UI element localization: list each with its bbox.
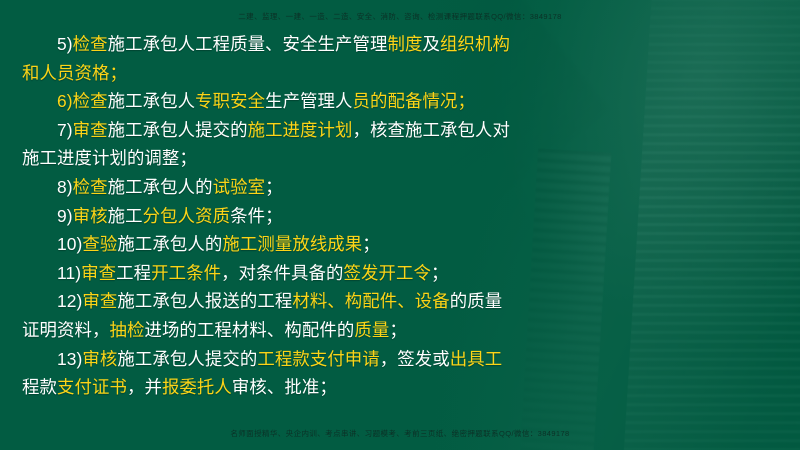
text-run: 施工承包人工程质量、安全生产管理 [108, 34, 388, 54]
highlighted-text-run: 开工条件 [151, 263, 221, 283]
highlighted-text-run: 质量 [354, 320, 389, 340]
highlighted-text-run: 组织机构 [440, 34, 510, 54]
text-run: 5) [22, 34, 73, 54]
highlighted-text-run: 专职安全 [195, 91, 265, 111]
text-run: 施工承包人报送的工程 [117, 291, 292, 311]
highlighted-text-run: 签发开工令 [344, 263, 431, 283]
list-item: 5)检查施工承包人工程质量、安全生产管理制度及组织机构 和人员资格； [22, 30, 582, 87]
text-run: 8) [22, 177, 73, 197]
text-run: ； [362, 234, 380, 254]
text-run: 施工承包人的 [108, 177, 213, 197]
highlighted-text-run: 报委托人 [162, 377, 232, 397]
text-run: ，核查施工承包人对 [353, 120, 510, 140]
text-run: 的质量 [450, 291, 502, 311]
list-item: 13)审核施工承包人提交的工程款支付申请，签发或出具工 程款支付证书，并报委托人… [22, 345, 582, 402]
list-item: 10)查验施工承包人的施工测量放线成果； [22, 230, 582, 259]
text-run: ； [431, 263, 449, 283]
highlighted-text-run: 支付证书 [57, 377, 127, 397]
highlighted-text-run: 审核 [82, 349, 117, 369]
highlighted-text-run: 检查 [73, 177, 108, 197]
highlighted-text-run: 审查 [81, 263, 116, 283]
text-run: 10) [22, 234, 82, 254]
text-run: 审核、批准； [232, 377, 337, 397]
text-run: 程款 [22, 377, 57, 397]
text-run: 生产管理人 [265, 91, 352, 111]
text-run: 9) [22, 206, 73, 226]
list-item: 7)审查施工承包人提交的施工进度计划，核查施工承包人对 施工进度计划的调整； [22, 116, 582, 173]
highlighted-text-run: 制度 [388, 34, 423, 54]
highlighted-text-run: 审查 [73, 120, 108, 140]
highlighted-text-run: 检查 [73, 91, 108, 111]
text-run: 及 [422, 34, 440, 54]
top-watermark-banner: 二建、监理、一建、一造、二造、安全、消防、咨询、检测课程押题联系QQ/微信：38… [0, 11, 800, 22]
highlighted-text-run: 分包人资质 [143, 206, 230, 226]
list-item: 11)审查工程开工条件，对条件具备的签发开工令； [22, 259, 582, 288]
highlighted-text-run: 出具工 [450, 349, 502, 369]
bottom-watermark-banner: 名师面授精华、央企内训、考点串讲、习题模考、考前三页纸、绝密押题联系QQ/微信：… [0, 428, 800, 439]
text-run: ，并 [127, 377, 162, 397]
text-run: 13) [22, 349, 82, 369]
paragraph-list: 5)检查施工承包人工程质量、安全生产管理制度及组织机构 和人员资格； 6)检查施… [22, 30, 582, 402]
highlighted-text-run: 员的配备情况； [353, 91, 475, 111]
list-item: 9)审核施工分包人资质条件； [22, 202, 582, 231]
highlighted-text-run: 查验 [82, 234, 117, 254]
list-item: 6)检查施工承包人专职安全生产管理人员的配备情况； [22, 87, 582, 116]
text-run: 工程 [116, 263, 151, 283]
highlighted-text-run: 检查 [73, 34, 108, 54]
text-run: 7) [22, 120, 73, 140]
presentation-slide: 二建、监理、一建、一造、二造、安全、消防、咨询、检测课程押题联系QQ/微信：38… [0, 0, 800, 450]
highlighted-text-run: 审查 [82, 291, 117, 311]
text-run: 施工承包人提交的 [108, 120, 248, 140]
text-run: 11) [22, 263, 81, 283]
text-run: 12) [22, 291, 82, 311]
text-run: ，对条件具备的 [221, 263, 343, 283]
text-run: 施工进度计划的调整； [22, 148, 197, 168]
highlighted-text-run: 6) [22, 91, 73, 111]
highlighted-text-run: 材料、构配件、设备 [292, 291, 449, 311]
highlighted-text-run: 和人员资格； [22, 63, 127, 83]
list-item: 8)检查施工承包人的试验室； [22, 173, 582, 202]
text-run: 施工承包人的 [117, 234, 222, 254]
text-run: ； [265, 177, 283, 197]
slide-body-text: 5)检查施工承包人工程质量、安全生产管理制度及组织机构 和人员资格； 6)检查施… [22, 30, 582, 402]
highlighted-text-run: 工程款支付申请 [257, 349, 379, 369]
list-item: 12)审查施工承包人报送的工程材料、构配件、设备的质量 证明资料，抽检进场的工程… [22, 287, 582, 344]
text-run: 施工 [108, 206, 143, 226]
text-run: 施工承包人提交的 [117, 349, 257, 369]
text-run: 进场的工程材料、构配件的 [144, 320, 354, 340]
text-run: ； [389, 320, 407, 340]
highlighted-text-run: 抽检 [109, 320, 144, 340]
text-run: ，签发或 [380, 349, 450, 369]
highlighted-text-run: 施工测量放线成果 [222, 234, 362, 254]
highlighted-text-run: 试验室 [213, 177, 265, 197]
text-run: 证明资料， [22, 320, 109, 340]
highlighted-text-run: 审核 [73, 206, 108, 226]
text-run: 条件； [230, 206, 282, 226]
text-run: 施工承包人 [108, 91, 195, 111]
highlighted-text-run: 施工进度计划 [248, 120, 353, 140]
